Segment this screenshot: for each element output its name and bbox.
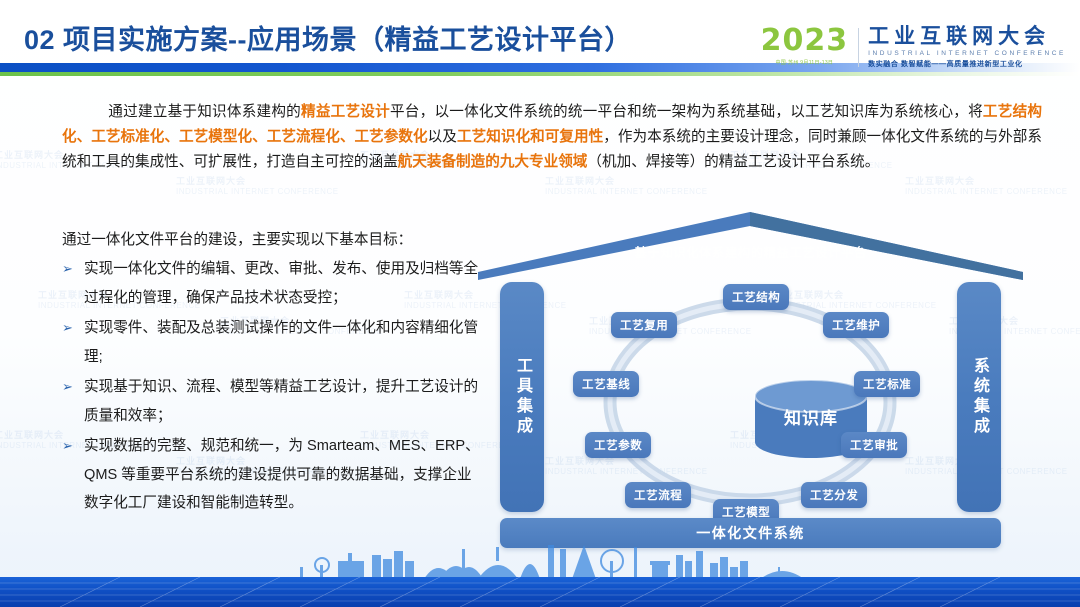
paragraph-text-run: 以及 [428,129,457,145]
pillar-left-label: 工具集成 [510,357,534,437]
header-divider-green [0,72,1080,76]
diagram-base-file-system: 一体化文件系统 [500,518,1001,548]
goal-list-item: ➢实现基于知识、流程、模型等精益工艺设计，提升工艺设计的质量和效率； [62,373,482,430]
goal-list-item: ➢实现零件、装配及总装测试操作的文件一体化和内容精细化管理; [62,314,482,371]
logo-year-block: 2023 中国·苏州 9月11日-13日 [761,26,859,66]
diagram-node: 工艺基线 [573,371,639,397]
platform-architecture-diagram: 基于知识化体系建构的精益工艺设计平台 工具集成 系统集成 知识库 工艺结构工艺复… [478,210,1023,555]
bullet-arrow-icon: ➢ [62,255,84,312]
bullet-arrow-icon: ➢ [62,314,84,371]
bullet-arrow-icon: ➢ [62,432,84,518]
pillar-left-tool-integration: 工具集成 [500,282,544,512]
diagram-node: 工艺参数 [585,432,651,458]
goal-item-text: 实现基于知识、流程、模型等精益工艺设计，提升工艺设计的质量和效率； [84,373,482,430]
diagram-node: 工艺流程 [625,482,691,508]
logo-date: 中国·苏州 9月11日-13日 [761,59,849,66]
watermark-text: 工业互联网大会INDUSTRIAL INTERNET CONFERENCE [176,176,339,197]
pillar-right-system-integration: 系统集成 [957,282,1001,512]
diagram-roof-label: 基于知识化体系建构的精益工艺设计平台 [478,242,1023,261]
goals-lead-text: 通过一体化文件平台的建设，主要实现以下基本目标： [62,228,482,252]
intro-paragraph: 通过建立基于知识体系建构的精益工艺设计平台，以一体化文件系统的统一平台和统一架构… [62,100,1042,175]
slide-canvas: 工业互联网大会INDUSTRIAL INTERNET CONFERENCE工业互… [0,0,1080,607]
watermark-text: 工业互联网大会INDUSTRIAL INTERNET CONFERENCE [905,176,1068,197]
logo-year: 2023 [761,26,849,56]
diagram-node: 工艺结构 [723,284,789,310]
diagram-node: 工艺维护 [823,312,889,338]
paragraph-text-run: 通过建立基于知识体系建构的 [108,104,301,120]
paragraph-highlight-term: 工艺知识化和可复用性 [457,129,603,145]
skyline-silhouette-icon [0,545,1080,579]
diagram-node-ring: 知识库 工艺结构工艺复用工艺维护工艺基线工艺标准工艺参数工艺审批工艺流程工艺分发… [573,284,928,516]
conference-logo: 2023 中国·苏州 9月11日-13日 工业互联网大会 INDUSTRIAL … [761,26,1066,69]
watermark-text: 工业互联网大会INDUSTRIAL INTERNET CONFERENCE [545,176,708,197]
pillar-right-label: 系统集成 [967,357,991,437]
logo-name-en: INDUSTRIAL INTERNET CONFERENCE [868,50,1066,57]
logo-text-block: 工业互联网大会 INDUSTRIAL INTERNET CONFERENCE 数… [868,26,1066,69]
goals-bullet-list: ➢实现一体化文件的编辑、更改、审批、发布、使用及归档等全过程化的管理，确保产品技… [62,255,482,520]
paragraph-highlight-term: 精益工艺设计 [301,104,390,120]
diagram-node: 工艺审批 [841,432,907,458]
diagram-node: 工艺分发 [801,482,867,508]
goal-item-text: 实现一体化文件的编辑、更改、审批、发布、使用及归档等全过程化的管理，确保产品技术… [84,255,482,312]
paragraph-highlight-term: 航天装备制造的九大专业领域 [398,154,588,170]
logo-tagline: 数实融合 数智赋能——高质量推进新型工业化 [868,59,1066,69]
goal-list-item: ➢实现数据的完整、规范和统一，为 Smarteam、MES、ERP、QMS 等重… [62,432,482,518]
goal-item-text: 实现数据的完整、规范和统一，为 Smarteam、MES、ERP、QMS 等重要… [84,432,482,518]
paragraph-text-run: （机加、焊接等）的精益工艺设计平台系统。 [587,154,879,170]
page-title: 02 项目实施方案--应用场景（精益工艺设计平台） [24,18,632,57]
diagram-node: 工艺复用 [611,312,677,338]
logo-separator [858,28,859,67]
bullet-arrow-icon: ➢ [62,373,84,430]
diagram-base-label: 一体化文件系统 [696,523,805,543]
footer-water-lines [0,577,1080,607]
knowledge-base-label: 知识库 [751,404,871,429]
slide-footer [0,545,1080,607]
goal-item-text: 实现零件、装配及总装测试操作的文件一体化和内容精细化管理; [84,314,482,371]
logo-name-cn: 工业互联网大会 [868,26,1066,48]
diagram-node: 工艺标准 [854,371,920,397]
paragraph-text-run: 平台，以一体化文件系统的统一平台和统一架构为系统基础，以工艺知识库为系统核心，将 [390,104,983,120]
goal-list-item: ➢实现一体化文件的编辑、更改、审批、发布、使用及归档等全过程化的管理，确保产品技… [62,255,482,312]
